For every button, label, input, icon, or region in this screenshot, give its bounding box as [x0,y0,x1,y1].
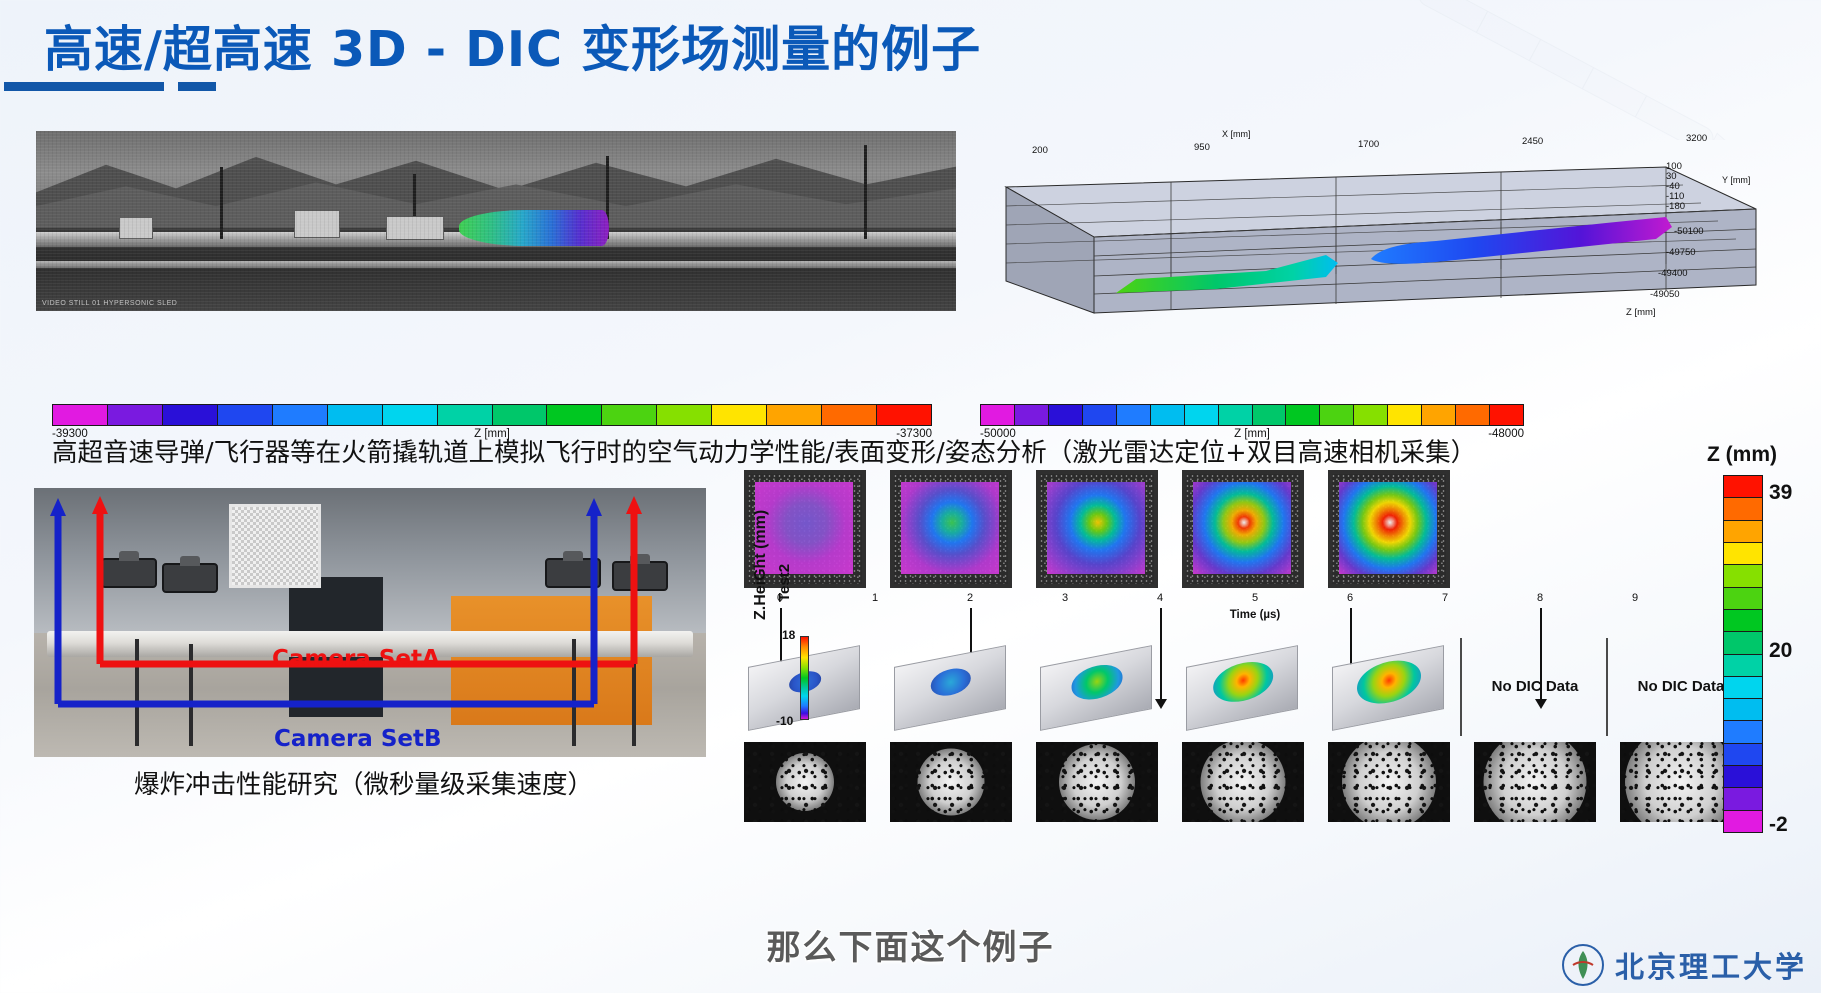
z-colorbar-swatch [1724,543,1762,565]
shadowgraph-particles [890,742,1012,822]
colorbar-swatch [822,405,877,425]
rig-orange-panel [451,596,653,725]
colorbar-swatch [53,405,108,425]
shadowgraph-particles [1036,742,1158,822]
colorbar-swatch [1354,405,1388,425]
time-axis-title: Time (µs) [1230,609,1281,621]
title-underline [4,82,216,91]
plot3d-x-tick: 950 [1194,142,1210,153]
time-axis-tick: 7 [1442,592,1448,604]
colorbar-right-strip [980,404,1524,426]
shadowgraph-particles [1328,742,1450,822]
plot3d-y-tick: -180 [1666,201,1685,212]
caption-bottom: 爆炸冲击性能研究（微秒量级采集速度） [134,764,593,801]
colorbar-swatch [1320,405,1354,425]
shadowgraph-cell [1182,742,1304,822]
colorbar-swatch [1456,405,1490,425]
time-axis: 012345678910Time (µs) [780,608,1730,610]
page-title: 高速/超高速 3D - DIC 变形场测量的例子 [44,10,981,81]
z-colorbar: Z (mm) 39 20 -2 [1707,443,1817,467]
colorbar-swatch [1286,405,1320,425]
z-height-min-label: -10 [776,714,793,728]
z-colorbar-swatch [1724,610,1762,632]
logo-emblem-icon [1561,943,1605,987]
panel-separator [1460,638,1462,736]
plot3d-x-axis-title: X [mm] [1222,129,1251,139]
camera-set-a-label: Camera SetA [272,646,440,672]
shadowgraph-cell [744,742,866,822]
dic-contour-cell [1182,470,1304,588]
caption-main: 高超音速导弹/飞行器等在火箭撬轨道上模拟飞行时的空气动力学性能/表面变形/姿态分… [52,436,1702,471]
shadowgraph-particles [744,742,866,822]
university-name: 北京理工大学 [1615,944,1807,986]
plot3d-z-tick: -49050 [1650,289,1680,300]
time-axis-tick: 3 [1062,592,1068,604]
colorbar-swatch [1490,405,1523,425]
shadowgraph-particles [1182,742,1304,822]
plot3d-x-tick: 2450 [1522,136,1543,147]
dic-contour-cell [1036,470,1158,588]
colorbar-swatch [1219,405,1253,425]
time-axis-tick: 2 [967,592,973,604]
plot3d-z-axis-title: Z [mm] [1626,307,1656,318]
dic-contour-field [1047,482,1145,574]
time-axis-tick: 5 [1252,592,1258,604]
z-colorbar-swatch [1724,632,1762,654]
camera-b1 [545,558,601,588]
surface-plot-cell [1036,638,1158,734]
time-axis-tick: 1 [872,592,878,604]
colorbar-swatch [602,405,657,425]
shadowgraph-cell [1474,742,1596,822]
plot3d-x-tick: 3200 [1686,133,1707,144]
z-colorbar-swatch [1724,788,1762,810]
z-colorbar-swatch [1724,699,1762,721]
plot3d-z-tick: -49750 [1666,247,1696,258]
colorbar-swatch [712,405,767,425]
colorbar-swatch [108,405,163,425]
colorbar-left-strip [52,404,932,426]
mini-colorbar [800,636,809,720]
rocket-sled-field-photo: VIDEO STILL 01 HYPERSONIC SLED [36,131,956,311]
surface-plot-cell [1328,638,1450,734]
colorbar-swatch [1151,405,1185,425]
colorbar-swatch [1083,405,1117,425]
time-axis-tick: 8 [1537,592,1543,604]
plot3d-x-tick: 1700 [1358,139,1379,150]
colorbar-swatch [1253,405,1287,425]
colorbar-swatch [163,405,218,425]
subtitle-overlay: 那么下面这个例子 [767,920,1055,969]
dic-analysis-panel: 012345678910Time (µs) No DIC DataNo DIC … [744,470,1744,820]
camera-set-b-label: Camera SetB [274,726,442,752]
colorbar-swatch [328,405,383,425]
colorbar-swatch [981,405,1015,425]
university-logo: 北京理工大学 [1561,943,1807,987]
dic-contour-field [901,482,999,574]
photo-watermark: VIDEO STILL 01 HYPERSONIC SLED [42,300,177,307]
colorbar-swatch [1388,405,1422,425]
slide-header: 高速/超高速 3D - DIC 变形场测量的例子 [44,10,981,81]
z-colorbar-mid: 20 [1769,639,1792,663]
shadowgraph-cell [890,742,1012,822]
photo-film-grain [36,131,956,311]
title-underline-short [178,82,216,91]
surface-plot-row: No DIC DataNo DIC Data [744,638,1742,734]
shadowgraph-row [744,742,1742,822]
z-colorbar-title: Z (mm) [1707,443,1817,467]
colorbar-swatch [1185,405,1219,425]
tripod [189,644,193,746]
colorbar-swatch [493,405,548,425]
decorative-rocket-illustration [1281,0,1821,140]
z-colorbar-swatch [1724,521,1762,543]
dic-contour-row [744,470,1450,588]
z-colorbar-max: 39 [1769,481,1792,505]
plot3d-y-axis-title: Y [mm] [1722,175,1750,185]
z-colorbar-min: -2 [1769,813,1788,837]
z-colorbar-swatch [1724,721,1762,743]
surface-plot-cell [1182,638,1304,734]
colorbar-swatch [383,405,438,425]
shadowgraph-cell [1036,742,1158,822]
z-colorbar-swatch [1724,744,1762,766]
time-axis-tick: 9 [1632,592,1638,604]
plot3d-z-tick: -49400 [1658,268,1688,279]
z-colorbar-swatch [1724,476,1762,498]
colorbar-swatch [438,405,493,425]
tripod [135,639,139,747]
z-height-axis-subtitle: Test2 [776,564,793,602]
colorbar-swatch [1049,405,1083,425]
no-dic-data-label: No DIC Data [1474,638,1596,734]
z-height-max-label: 18 [782,628,795,642]
surface-plot-cell [890,638,1012,734]
z-colorbar-swatch [1724,766,1762,788]
colorbar-swatch [1422,405,1456,425]
colorbar-swatch [657,405,712,425]
plot3d-z-tick: -50100 [1674,226,1704,237]
tripod [572,639,576,747]
camera-b2 [612,561,668,591]
colorbar-swatch [218,405,273,425]
dic-contour-cell [890,470,1012,588]
camera-a1 [101,558,157,588]
colorbar-swatch [1015,405,1049,425]
dic-contour-field [1193,482,1291,574]
tripod [632,641,636,746]
colorbar-swatch [767,405,822,425]
rig-speckle-target [229,504,321,588]
z-colorbar-swatch [1724,498,1762,520]
z-colorbar-swatch [1724,677,1762,699]
three-d-deformation-plot: X [mm] 200 950 1700 2450 3200 Y [mm] 100… [966,131,1786,319]
title-underline-long [4,82,164,91]
plot3d-x-tick: 200 [1032,145,1048,156]
time-axis-tick: 6 [1347,592,1353,604]
camera-rig-photo [34,488,706,757]
z-height-axis-title: Z.HeiGht (mm) [752,510,770,620]
colorbar-swatch [547,405,602,425]
colorbar-swatch [877,405,931,425]
shadowgraph-particles [1474,742,1596,822]
z-colorbar-swatch [1724,655,1762,677]
shadowgraph-cell [1328,742,1450,822]
time-axis-tick: 4 [1157,592,1163,604]
dic-contour-cell [1328,470,1450,588]
colorbar-swatch [273,405,328,425]
colorbar-swatch [1117,405,1151,425]
z-colorbar-swatch [1724,565,1762,587]
z-colorbar-swatch [1724,588,1762,610]
z-colorbar-swatch [1724,811,1762,832]
z-colorbar-strip [1723,475,1763,833]
camera-a2 [162,563,218,593]
panel-separator [1606,638,1608,736]
dic-contour-field [1339,482,1437,574]
